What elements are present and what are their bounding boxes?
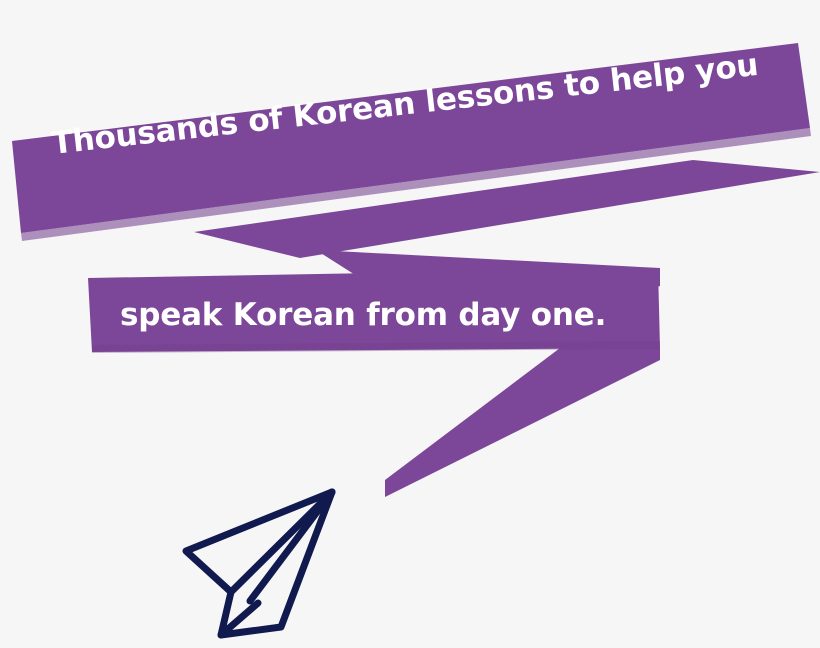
headline-line-2: speak Korean from day one. <box>120 297 606 333</box>
ribbon-tail <box>385 348 660 497</box>
promo-banner-graphic: Thousands of Korean lessons to help you … <box>0 0 820 648</box>
paper-plane-icon <box>186 492 332 635</box>
